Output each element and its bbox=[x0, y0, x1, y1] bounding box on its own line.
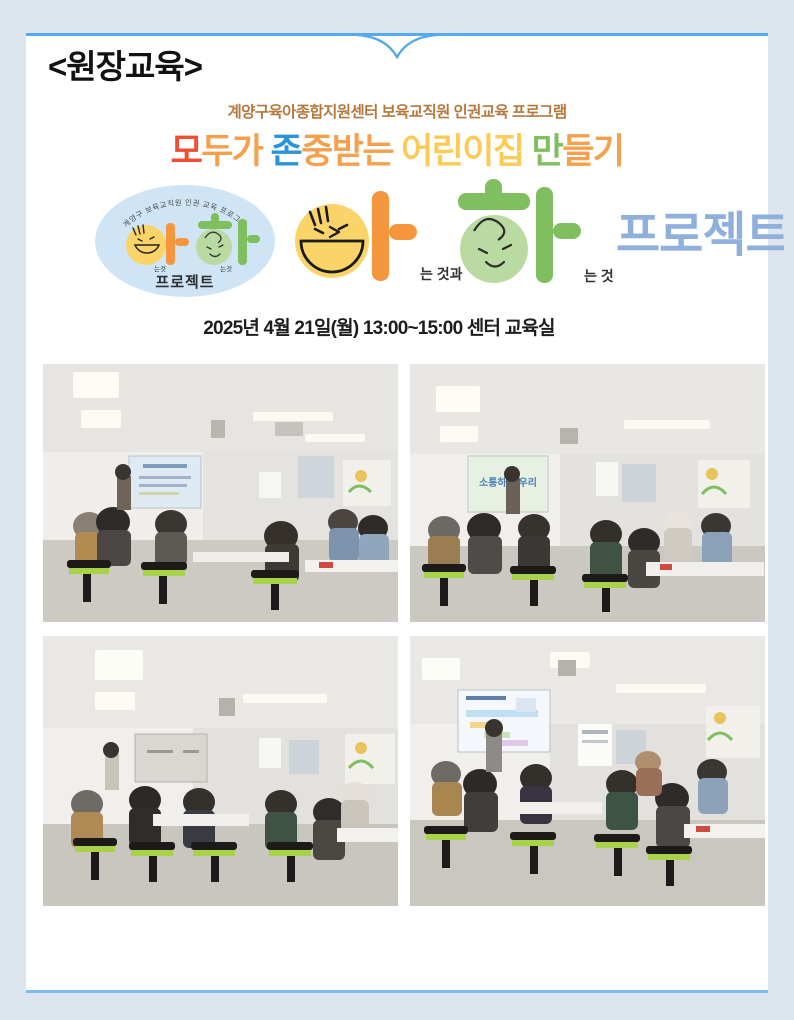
headline-seg-4: 중받는 bbox=[301, 131, 393, 173]
headline-seg-5: 어린이집 bbox=[401, 131, 523, 173]
headline: 모두가 존중받는 어린이집 만들기 bbox=[26, 122, 768, 173]
organization-line: 계양구육아종합지원센터 보육교직원 인권교육 프로그램 bbox=[26, 86, 768, 122]
poster-card: <원장교육> 계양구육아종합지원센터 보육교직원 인권교육 프로그램 모두가 존… bbox=[26, 33, 768, 993]
wordmark-sub-yellow: 는 것과 bbox=[420, 266, 463, 282]
photo-grid: 소통하는 우리 bbox=[36, 364, 758, 906]
photo-top-right: 소통하는 우리 bbox=[410, 364, 765, 622]
poster-header: <원장교육> 계양구육아종합지원센터 보육교직원 인권교육 프로그램 모두가 존… bbox=[26, 36, 768, 173]
page-title: <원장교육> bbox=[26, 42, 768, 86]
badge-sub-yellow: 는것 bbox=[154, 264, 166, 273]
headline-seg-1: 모 bbox=[171, 131, 202, 173]
logo-row: 계양구 보육교직원 인권 교육 프로그램 bbox=[26, 179, 768, 309]
poster-page: <원장교육> 계양구육아종합지원센터 보육교직원 인권교육 프로그램 모두가 존… bbox=[0, 0, 794, 1020]
photo-top-left bbox=[43, 364, 398, 622]
wordmark-sub-green: 는 것 bbox=[584, 268, 614, 284]
photo-bottom-right bbox=[410, 636, 765, 906]
wordmark-logo: 는 것과 는 것 프로젝트 bbox=[284, 179, 784, 309]
headline-seg-7: 들기 bbox=[562, 131, 623, 173]
headline-seg-6: 만 bbox=[532, 131, 563, 173]
event-datetime: 2025년 4월 21일(월) 13:00~15:00 센터 교육실 bbox=[26, 309, 768, 340]
wordmark-project-text: 프로젝트 bbox=[616, 209, 784, 262]
badge-bottom-text: 프로젝트 bbox=[155, 274, 214, 291]
photo-bottom-left bbox=[43, 636, 398, 906]
headline-seg-2: 두가 bbox=[201, 131, 262, 173]
headline-seg-3: 존 bbox=[271, 131, 302, 173]
badge-sub-green: 는것 bbox=[220, 264, 232, 273]
program-badge-logo: 계양구 보육교직원 인권 교육 프로그램 bbox=[92, 183, 278, 299]
